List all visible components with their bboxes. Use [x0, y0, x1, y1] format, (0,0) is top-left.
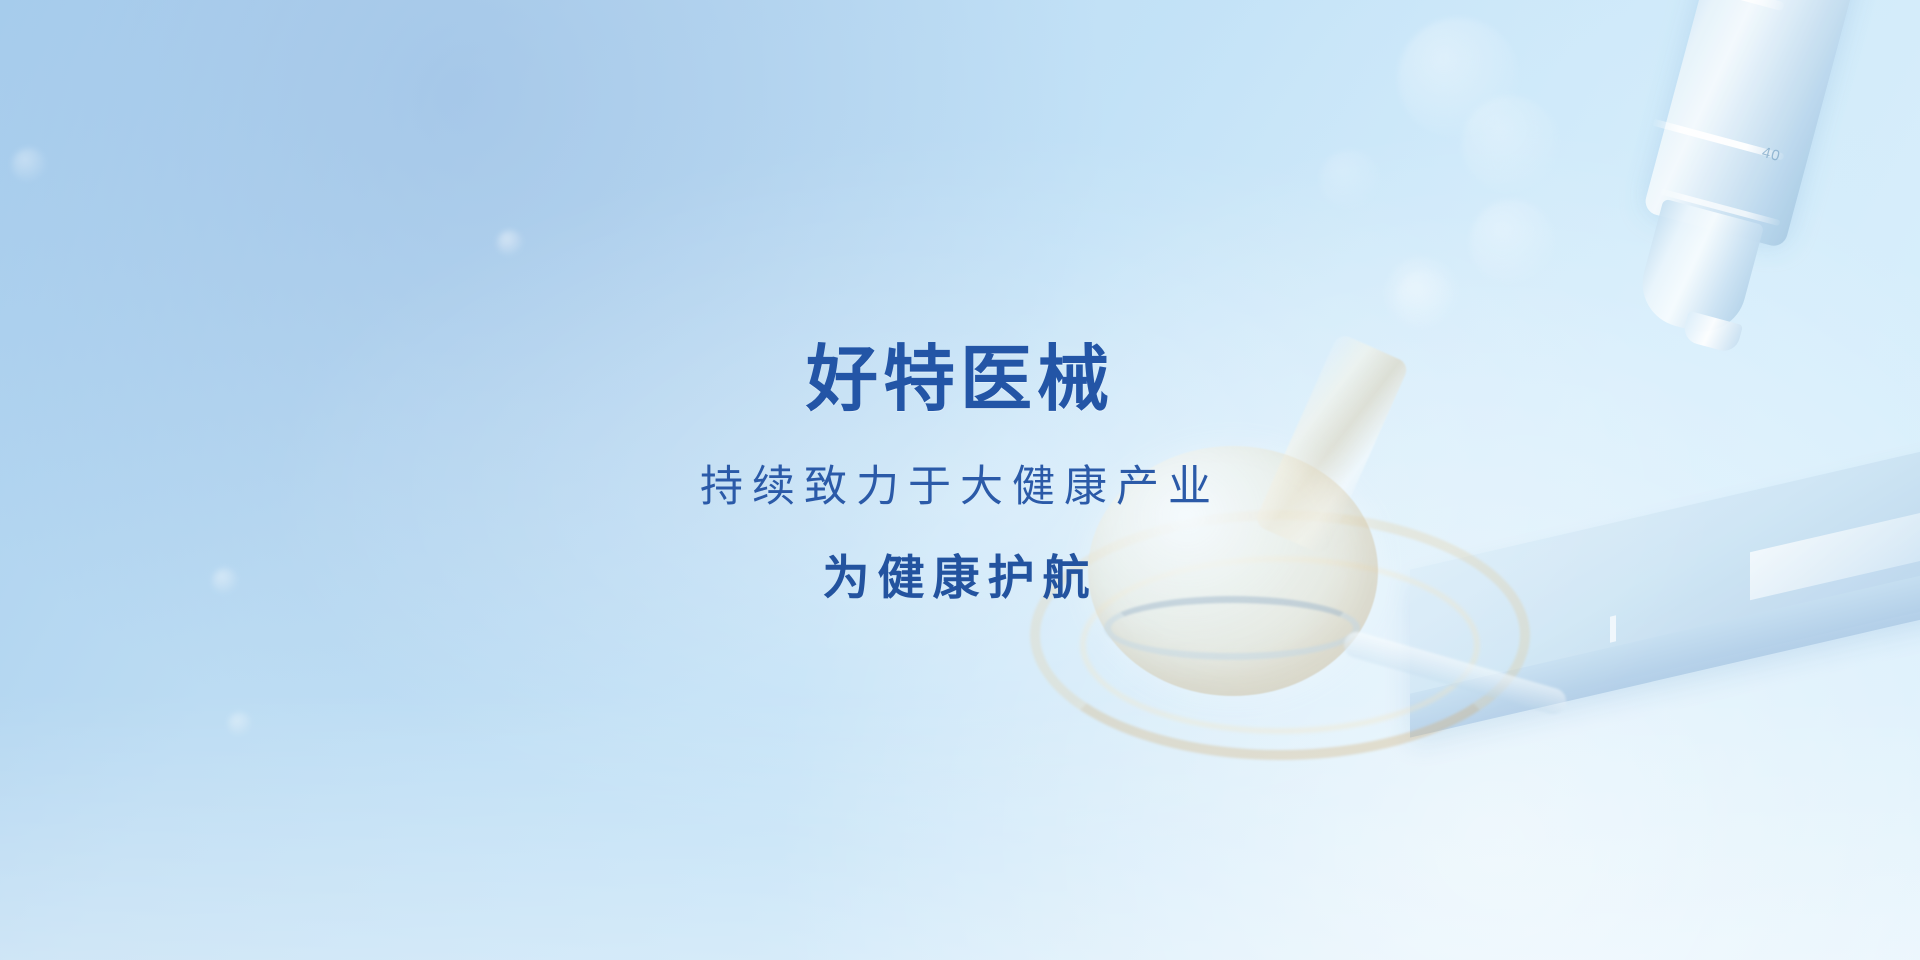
hero-banner: 40 好特医械 持续致力于大健康产业 为健康护航	[0, 0, 1920, 960]
hero-subtitle: 持续致力于大健康产业	[0, 466, 1920, 509]
hero-tagline: 为健康护航	[0, 554, 1920, 601]
page-title: 好特医械	[0, 344, 1920, 416]
hero-copy: 好特医械 持续致力于大健康产业 为健康护航	[0, 344, 1920, 601]
